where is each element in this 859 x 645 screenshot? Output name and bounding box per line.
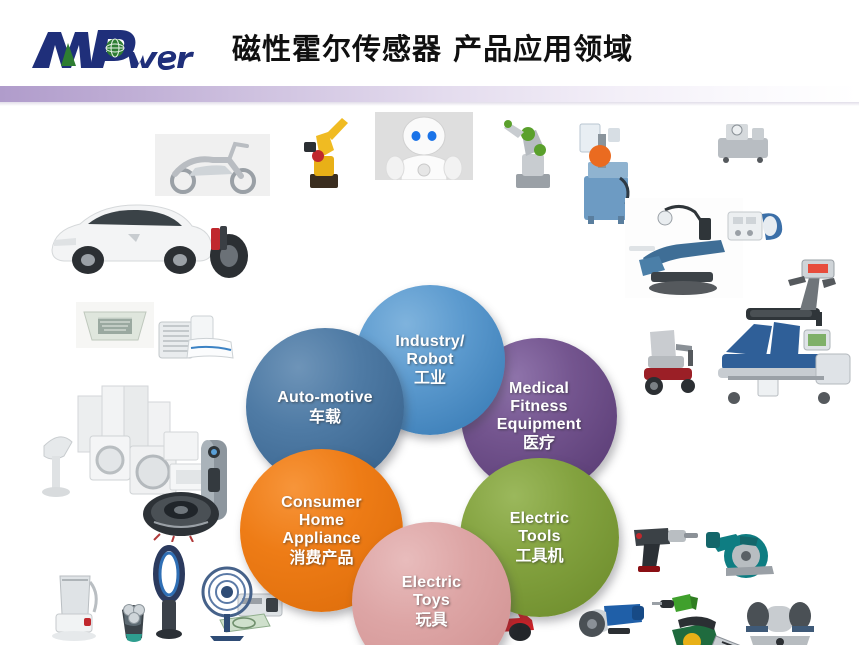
bubble-toys-cn: 玩具	[415, 611, 447, 629]
power-wheelchair-photo	[630, 320, 714, 398]
cordless-circular-saw-photo	[700, 522, 786, 584]
cnc-machine-photo	[712, 116, 774, 164]
bubble-consumer-en-line1: Consumer	[281, 494, 362, 512]
white-electric-car-photo	[40, 188, 220, 276]
blood-pressure-monitor-photo	[726, 202, 788, 246]
humanoid-robot-photo	[375, 112, 473, 180]
header-divider-gradient	[0, 86, 859, 102]
bench-grinder-photo	[740, 592, 818, 645]
cassette-air-conditioner-photo	[76, 302, 154, 348]
bubble-toys-en-line1: Electric	[402, 574, 461, 592]
impact-wrench-photo	[630, 522, 702, 574]
electric-unicycle-photo	[205, 220, 251, 282]
green-articulated-robot-arm-photo	[498, 114, 564, 192]
bubble-medical-en-line1: Medical	[509, 380, 569, 398]
slide-canvas: 磁性霍尔传感器 产品应用领域	[0, 0, 859, 645]
bubble-automotive-en-line1: Auto-motive	[277, 389, 373, 407]
angle-grinder-photo	[574, 598, 648, 645]
split-air-conditioner-photo	[155, 312, 235, 378]
bubble-toys-en-line2: Toys	[413, 592, 450, 610]
page-title: 磁性霍尔传感器 产品应用领域	[232, 26, 633, 68]
bubble-tools-cn: 工具机	[515, 547, 563, 565]
bubble-medical-en-line2: Fitness	[510, 398, 567, 416]
bubble-automotive-cn: 车载	[309, 408, 341, 426]
slide-header: 磁性霍尔传感器 产品应用领域	[0, 0, 859, 86]
bubble-tools-en-line1: Electric	[510, 510, 569, 528]
robot-vacuum-cleaner-photo	[140, 488, 222, 542]
bubble-tools-en-line2: Tools	[518, 528, 560, 546]
bubble-industry-cn: 工业	[414, 369, 446, 387]
yellow-industrial-robot-arm-photo	[298, 112, 352, 192]
hospital-bed-photo	[708, 312, 858, 408]
bladeless-tower-fan-photo	[152, 544, 186, 642]
electric-scooter-photo	[155, 134, 270, 196]
content-stage: RYOBI Industry/ Robot 工业 Auto-motive 车载	[0, 102, 859, 645]
bubble-industry-en-line2: Robot	[406, 351, 453, 369]
bubble-industry-en-line1: Industry/	[395, 333, 464, 351]
bubble-consumer-en-line3: Appliance	[282, 530, 360, 548]
mpower-logo	[28, 26, 208, 72]
bubble-consumer-cn: 消费产品	[289, 549, 353, 567]
kitchen-blender-photo	[44, 568, 104, 642]
electric-shaver-photo	[110, 594, 158, 645]
bubble-medical-en-line3: Equipment	[497, 416, 581, 434]
bubble-medical-cn: 医疗	[523, 434, 555, 452]
table-fan-photo	[196, 562, 258, 642]
bubble-consumer-en-line2: Home	[299, 512, 344, 530]
